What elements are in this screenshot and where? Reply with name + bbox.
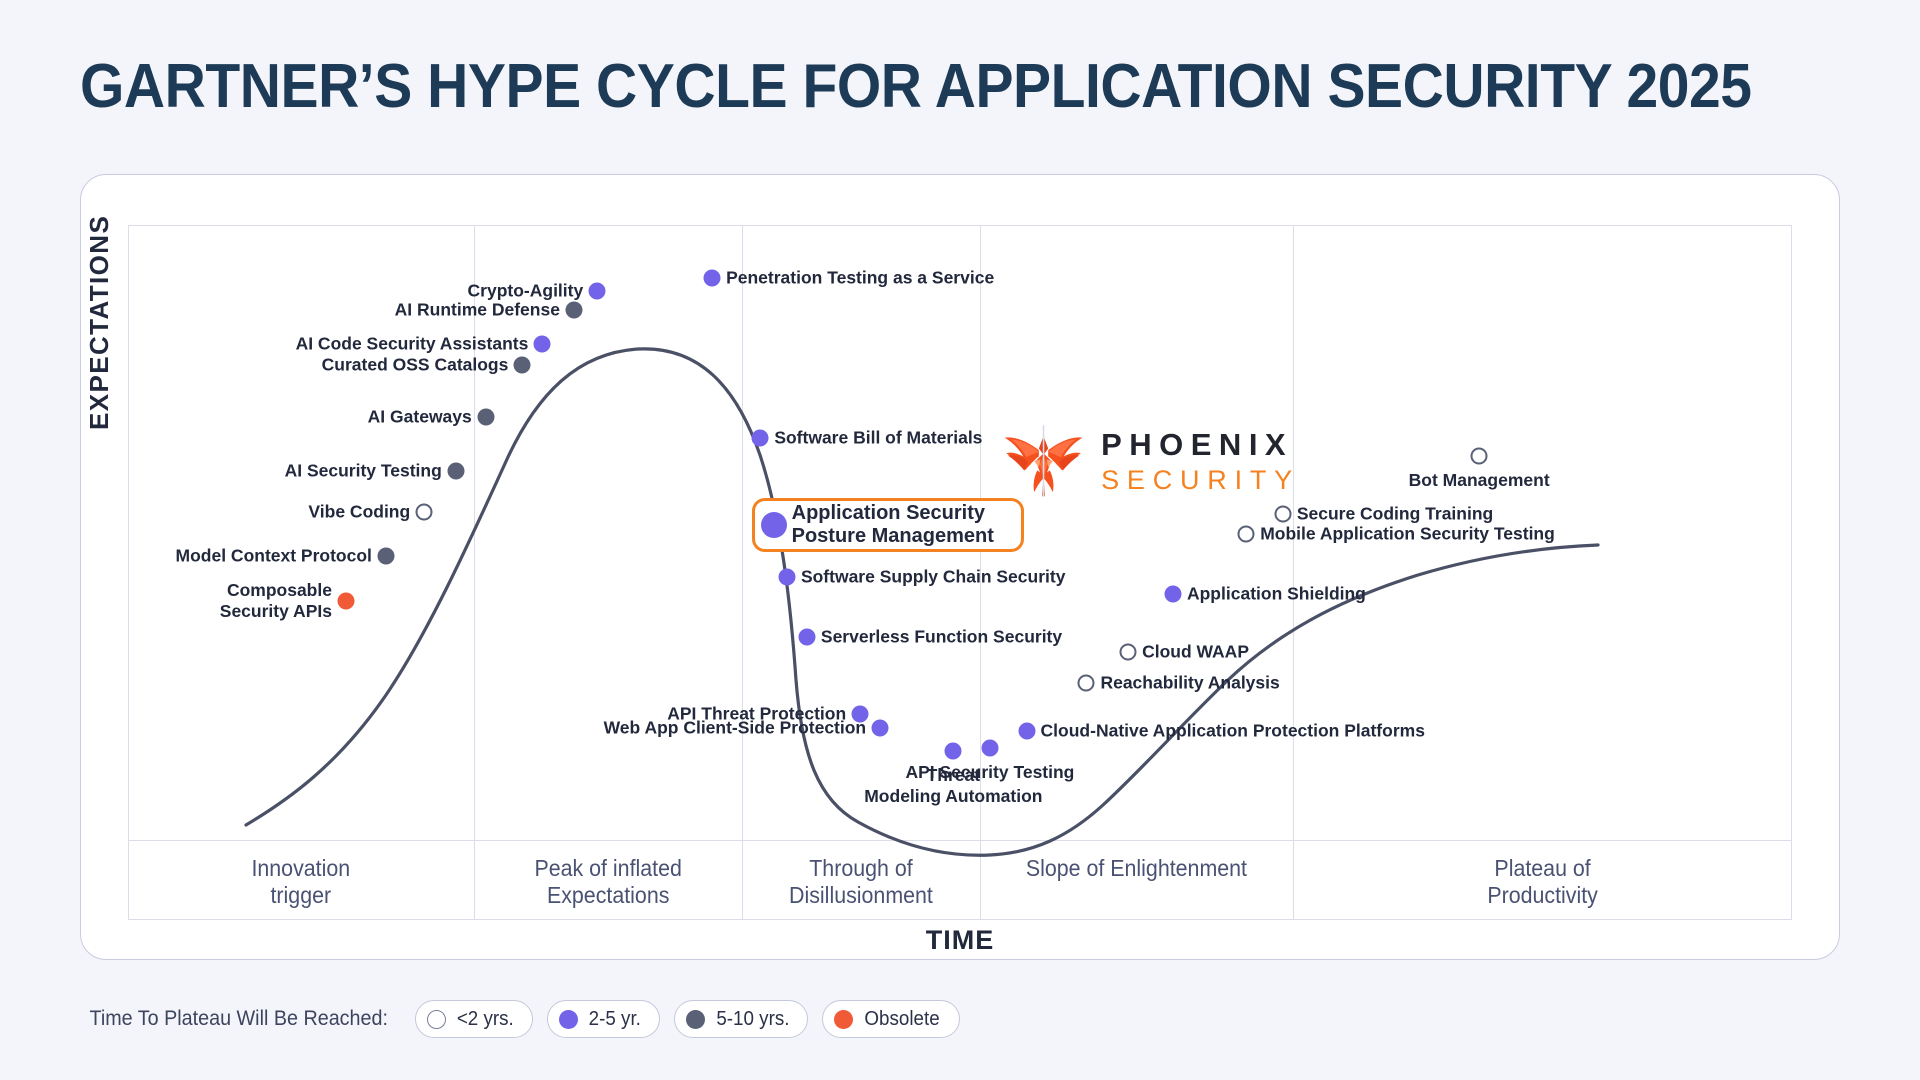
- phoenix-security-logo: PHOENIX SECURITY: [1000, 408, 1300, 514]
- page-title: GARTNER’S HYPE CYCLE FOR APPLICATION SEC…: [80, 52, 1752, 122]
- phase-label: Innovationtrigger: [140, 855, 461, 909]
- data-point-label: Vibe Coding: [308, 501, 410, 522]
- phase-label: Peak of inflatedExpectations: [483, 855, 733, 909]
- data-point-label: AI Gateways: [368, 406, 472, 427]
- data-point[interactable]: [1164, 586, 1181, 603]
- legend-label: <2 yrs.: [457, 1008, 514, 1031]
- legend-swatch: [686, 1010, 705, 1029]
- legend-item-lt2[interactable]: <2 yrs.: [415, 1000, 533, 1038]
- data-point[interactable]: [447, 463, 464, 480]
- data-point-label: Curated OSS Catalogs: [322, 355, 509, 376]
- legend-item-2to5[interactable]: 2-5 yr.: [547, 1000, 660, 1038]
- data-point-label: Reachability Analysis: [1100, 673, 1279, 694]
- data-point[interactable]: [477, 408, 494, 425]
- legend-swatch: [834, 1010, 853, 1029]
- legend-items: <2 yrs.2-5 yr.5-10 yrs.Obsolete: [415, 1000, 959, 1038]
- data-point-label: Secure Coding Training: [1297, 504, 1493, 525]
- data-point[interactable]: [1018, 722, 1035, 739]
- data-point[interactable]: [534, 336, 551, 353]
- data-point-label: Model Context Protocol: [176, 545, 372, 566]
- data-point[interactable]: [514, 357, 531, 374]
- data-point-label: Mobile Application Security Testing: [1260, 524, 1555, 545]
- legend-label: Obsolete: [865, 1008, 940, 1031]
- legend-swatch: [559, 1010, 578, 1029]
- phoenix-bird-icon: [1000, 415, 1087, 507]
- data-point[interactable]: [1120, 643, 1137, 660]
- data-point-label: Serverless Function Security: [821, 627, 1062, 648]
- data-point[interactable]: [945, 742, 962, 759]
- data-point[interactable]: [1238, 526, 1255, 543]
- data-point-label: Software Supply Chain Security: [801, 566, 1066, 587]
- logo-name: PHOENIX: [1101, 429, 1300, 460]
- y-axis-label: EXPECTATIONS: [84, 130, 115, 430]
- data-point[interactable]: [704, 269, 721, 286]
- logo-wordmark: PHOENIX SECURITY: [1101, 429, 1300, 494]
- highlighted-item-label: Application Security Posture Management: [792, 502, 994, 548]
- data-point[interactable]: [981, 739, 998, 756]
- data-point-label: Composable Security APIs: [220, 580, 332, 622]
- legend-item-5to10[interactable]: 5-10 yrs.: [674, 1000, 809, 1038]
- data-point-label: Cloud WAAP: [1142, 641, 1249, 662]
- data-point-label: AI Runtime Defense: [395, 299, 560, 320]
- logo-subtitle: SECURITY: [1101, 467, 1300, 494]
- data-point[interactable]: [752, 430, 769, 447]
- legend-label: 2-5 yr.: [589, 1008, 641, 1031]
- data-point[interactable]: [1078, 675, 1095, 692]
- phase-label: Slope of Enlightenment: [991, 855, 1282, 882]
- data-point-label: AI Security Testing: [285, 461, 442, 482]
- data-point[interactable]: [377, 547, 394, 564]
- data-point-label: AI Code Security Assistants: [296, 334, 529, 355]
- data-point[interactable]: [872, 720, 889, 737]
- data-point-label: Crypto-Agility: [468, 281, 584, 302]
- data-point-label: Application Shielding: [1187, 584, 1366, 605]
- legend-label: 5-10 yrs.: [716, 1008, 789, 1031]
- hype-cycle-page: GARTNER’S HYPE CYCLE FOR APPLICATION SEC…: [0, 0, 1920, 1080]
- data-point[interactable]: [416, 503, 433, 520]
- data-point[interactable]: [1471, 447, 1488, 464]
- data-point-label: Penetration Testing as a Service: [726, 267, 994, 288]
- data-point[interactable]: [798, 629, 815, 646]
- legend-item-obsolete[interactable]: Obsolete: [822, 1000, 959, 1038]
- x-axis-label: TIME: [0, 925, 1920, 956]
- data-point-label: API Security Testing: [905, 762, 1074, 783]
- plot-area: InnovationtriggerPeak of inflatedExpecta…: [128, 225, 1792, 920]
- data-point-label: Software Bill of Materials: [774, 428, 982, 449]
- legend: Time To Plateau Will Be Reached: <2 yrs.…: [80, 1000, 960, 1038]
- legend-title: Time To Plateau Will Be Reached:: [90, 1007, 388, 1031]
- data-point[interactable]: [337, 593, 354, 610]
- phase-label: Plateau ofProductivity: [1310, 855, 1774, 909]
- data-point[interactable]: [565, 301, 582, 318]
- data-point[interactable]: [761, 512, 787, 538]
- legend-swatch: [427, 1010, 446, 1029]
- data-point-label: Bot Management: [1409, 470, 1550, 491]
- phase-label: Through ofDisillusionment: [750, 855, 971, 909]
- data-point-label: Cloud-Native Application Protection Plat…: [1041, 720, 1425, 741]
- data-point-label: Web App Client-Side Protection: [604, 718, 867, 739]
- data-point[interactable]: [589, 283, 606, 300]
- data-point[interactable]: [778, 568, 795, 585]
